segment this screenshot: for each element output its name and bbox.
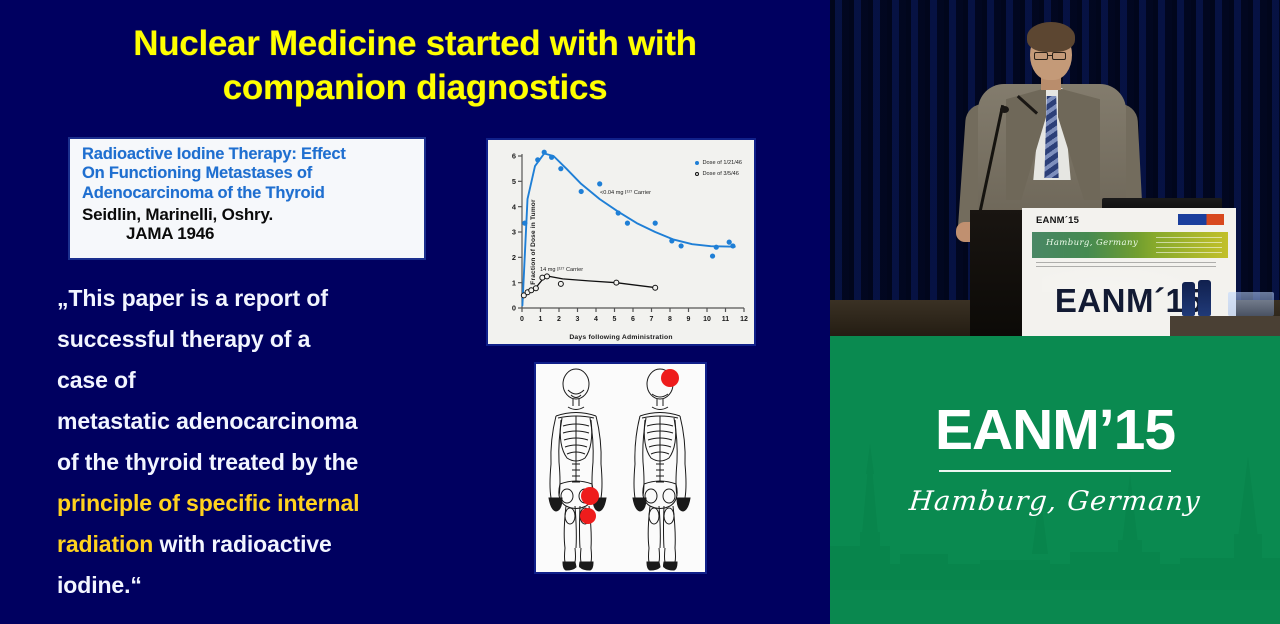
chart-annotation-1: 14 mg I¹²⁷ Carrier (540, 267, 583, 273)
svg-text:4: 4 (512, 202, 517, 211)
podium-sign-subtext-lines (1036, 262, 1216, 270)
svg-text:6: 6 (512, 152, 516, 161)
eyeglasses-right-lens-icon (1052, 52, 1066, 60)
svg-text:1: 1 (512, 278, 516, 287)
skeleton-scan-image (534, 362, 707, 574)
speaker-hair (1027, 22, 1075, 52)
legend-item-0: Dose of 1/21/46 (695, 158, 743, 169)
citation-authors: Seidlin, Marinelli, Oshry. (82, 205, 416, 224)
water-bottle (1182, 282, 1195, 316)
presentation-slide: Nuclear Medicine started with with compa… (0, 0, 830, 624)
svg-text:1: 1 (539, 316, 543, 323)
quote-line-3: case of (57, 360, 457, 401)
quote-line-7-rest: with radioactive (153, 531, 332, 557)
microphone-icon (1000, 106, 1009, 113)
side-table (1170, 316, 1280, 336)
podium-sign-band-script: Hamburg, Germany (1046, 238, 1138, 248)
chart-annotation-0: <0.04 mg I¹²⁷ Carrier (600, 190, 651, 196)
quote-block: „This paper is a report of successful th… (57, 278, 457, 606)
filled-circle-icon (695, 161, 699, 165)
svg-text:3: 3 (576, 316, 580, 323)
svg-text:5: 5 (613, 316, 617, 323)
svg-text:5: 5 (512, 177, 516, 186)
skeleton-diagram (536, 364, 705, 572)
eanm-logo: EANM’15 Hamburg, Germany (830, 402, 1280, 517)
eanm-logo-subtitle: Hamburg, Germany (830, 486, 1280, 517)
svg-text:3: 3 (512, 228, 516, 237)
quote-line-4: metastatic adenocarcinoma (57, 401, 457, 442)
screen: Nuclear Medicine started with with compa… (0, 0, 1280, 624)
chart-x-axis-label: Days following Administration (488, 334, 754, 341)
svg-text:9: 9 (687, 316, 691, 323)
dose-uptake-chart: Fraction of Dose in Tumor Days following… (486, 138, 756, 346)
citation-title-line-2: On Functioning Metastases of (82, 164, 416, 183)
quote-line-1: „This paper is a report of (57, 278, 457, 319)
quote-line-2: successful therapy of a (57, 319, 457, 360)
svg-text:2: 2 (512, 253, 516, 262)
svg-text:0: 0 (512, 304, 516, 313)
eanm-logo-panel: EANM’15 Hamburg, Germany (830, 336, 1280, 624)
svg-text:11: 11 (722, 316, 730, 323)
quote-line-7-highlight: radiation (57, 531, 153, 557)
eanm-logo-divider (939, 470, 1171, 472)
eanm-logo-main: EANM’15 (830, 402, 1280, 459)
eyeglasses-bridge-icon (1047, 55, 1053, 56)
podium-sign-small-label: EANM´15 (1036, 215, 1079, 226)
quote-line-8: iodine.“ (57, 565, 457, 606)
citation-card: Radioactive Iodine Therapy: Effect On Fu… (68, 137, 426, 260)
chart-y-axis-label: Fraction of Dose in Tumor (530, 199, 537, 284)
page-title: Nuclear Medicine started with with compa… (0, 22, 830, 111)
water-bottle (1198, 280, 1211, 316)
chart-legend: Dose of 1/21/46 Dose of 3/5/46 (695, 158, 743, 179)
citation-title-line-1: Radioactive Iodine Therapy: Effect (82, 145, 416, 164)
legend-label-1: Dose of 3/5/46 (703, 169, 739, 180)
sponsor-flag-icon (1178, 214, 1224, 225)
drinking-glasses (1228, 292, 1274, 316)
svg-text:0: 0 (520, 316, 524, 323)
citation-title-line-3: Adenocarcinoma of the Thyroid (82, 184, 416, 203)
open-circle-icon (695, 172, 699, 176)
svg-text:6: 6 (631, 316, 635, 323)
podium-band-text-lines (1156, 237, 1222, 253)
citation-journal: JAMA 1946 (82, 224, 416, 243)
svg-text:2: 2 (557, 316, 561, 323)
svg-text:12: 12 (740, 316, 748, 323)
podium-sign-band: Hamburg, Germany (1032, 232, 1228, 258)
svg-text:7: 7 (650, 316, 654, 323)
legend-label-0: Dose of 1/21/46 (703, 158, 743, 169)
svg-text:8: 8 (668, 316, 672, 323)
eyeglasses-left-lens-icon (1034, 52, 1048, 60)
quote-line-6-highlight: principle of specific internal (57, 483, 457, 524)
svg-text:10: 10 (703, 316, 711, 323)
speaker-video[interactable]: EANM´15 Hamburg, Germany EANM´15 (830, 0, 1280, 336)
legend-item-1: Dose of 3/5/46 (695, 169, 743, 180)
quote-line-5: of the thyroid treated by the (57, 442, 457, 483)
svg-text:4: 4 (594, 316, 598, 323)
